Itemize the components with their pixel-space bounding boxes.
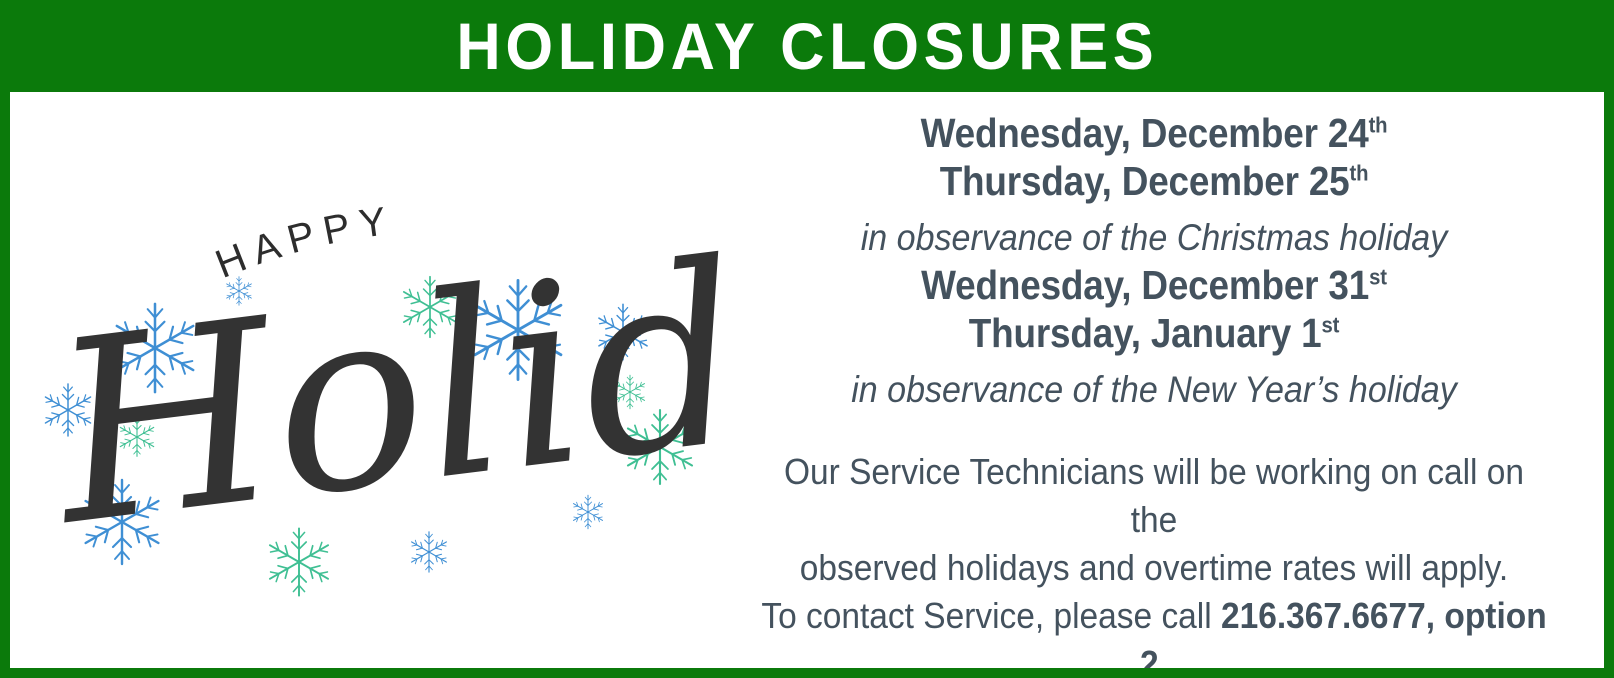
header-banner: HOLIDAY CLOSURES (0, 0, 1614, 92)
closure-block-new-year: Wednesday, December 31st Thursday, Janua… (730, 262, 1578, 414)
closure-block-christmas: Wednesday, December 24th Thursday, Decem… (730, 110, 1578, 262)
closure-date-line: Thursday, January 1st (772, 310, 1535, 358)
service-note: Our Service Technicians will be working … (760, 448, 1549, 668)
closure-date-line: Thursday, December 25th (772, 158, 1535, 206)
service-note-line-1: Our Service Technicians will be working … (760, 448, 1549, 544)
holiday-closure-poster: HOLIDAY CLOSURES (0, 0, 1614, 678)
happy-holidays-artwork: HAPPY Holidays (10, 92, 720, 668)
observance-note: in observance of the Christmas holiday (764, 214, 1544, 262)
service-call-prefix: To contact Service, please call (761, 595, 1221, 636)
observance-note: in observance of the New Year’s holiday (764, 366, 1544, 414)
service-note-line-3: To contact Service, please call 216.367.… (760, 592, 1549, 668)
service-note-line-2: observed holidays and overtime rates wil… (760, 544, 1549, 592)
closure-date-line: Wednesday, December 31st (772, 262, 1535, 310)
closure-details: Wednesday, December 24th Thursday, Decem… (720, 92, 1604, 668)
page-title: HOLIDAY CLOSURES (456, 13, 1158, 79)
closure-date-line: Wednesday, December 24th (772, 110, 1535, 158)
content-frame: HAPPY Holidays Wednesday, December 24th … (10, 92, 1604, 668)
